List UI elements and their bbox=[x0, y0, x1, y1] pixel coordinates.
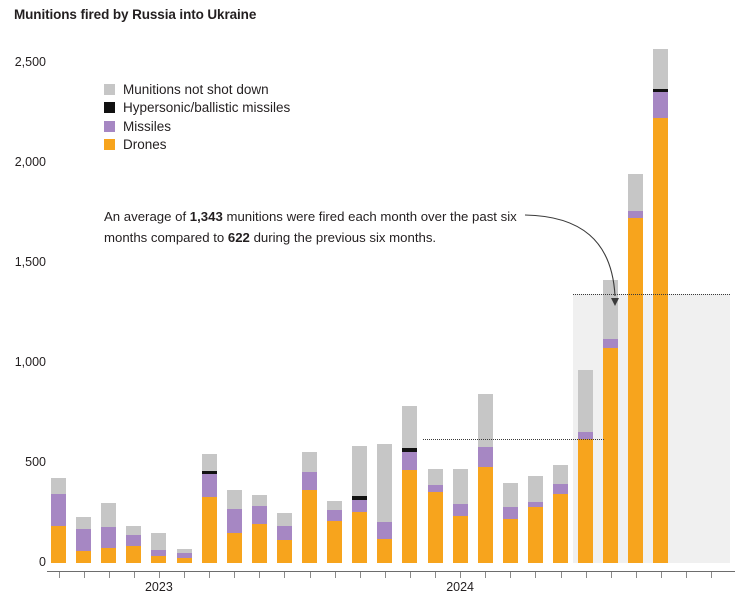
bar-segment-missiles bbox=[402, 452, 417, 470]
x-axis-tick bbox=[184, 572, 185, 578]
bar-jun-2024[interactable] bbox=[478, 394, 493, 563]
bar-segment-not-shot-down bbox=[101, 503, 116, 527]
plot-area: 20232024 bbox=[47, 0, 735, 600]
x-axis-tick bbox=[460, 572, 461, 578]
bar-jan-2023[interactable] bbox=[51, 478, 66, 563]
y-axis-tick-label: 1,000 bbox=[0, 355, 46, 369]
bar-segment-drones bbox=[51, 526, 66, 563]
bar-segment-not-shot-down bbox=[227, 490, 242, 509]
bar-segment-not-shot-down bbox=[653, 49, 668, 89]
x-axis-tick bbox=[611, 572, 612, 578]
bar-segment-drones bbox=[402, 470, 417, 563]
x-axis-line bbox=[47, 571, 735, 572]
bar-segment-drones bbox=[653, 118, 668, 563]
x-axis-tick bbox=[510, 572, 511, 578]
y-axis-tick-label: 1,500 bbox=[0, 255, 46, 269]
bar-segment-drones bbox=[503, 519, 518, 563]
bar-segment-not-shot-down bbox=[553, 465, 568, 484]
x-axis-tick bbox=[209, 572, 210, 578]
bar-segment-drones bbox=[352, 512, 367, 563]
x-axis-tick bbox=[284, 572, 285, 578]
bar-segment-not-shot-down bbox=[327, 501, 342, 510]
bar-segment-missiles bbox=[653, 92, 668, 118]
bar-oct-2023[interactable] bbox=[277, 513, 292, 563]
bar-segment-missiles bbox=[603, 339, 618, 348]
bar-segment-drones bbox=[252, 524, 267, 563]
bar-segment-not-shot-down bbox=[352, 446, 367, 496]
bar-jun-2023[interactable] bbox=[177, 549, 192, 563]
bar-nov-2023[interactable] bbox=[302, 452, 317, 563]
bar-segment-missiles bbox=[227, 509, 242, 533]
bar-segment-not-shot-down bbox=[277, 513, 292, 526]
bar-segment-missiles bbox=[377, 522, 392, 539]
bar-segment-drones bbox=[277, 540, 292, 563]
bar-segment-drones bbox=[76, 551, 91, 563]
bar-segment-not-shot-down bbox=[503, 483, 518, 507]
bar-segment-missiles bbox=[528, 502, 543, 507]
bar-segment-not-shot-down bbox=[151, 533, 166, 550]
bar-segment-not-shot-down bbox=[628, 174, 643, 211]
x-axis-tick bbox=[259, 572, 260, 578]
y-axis-tick-label: 2,000 bbox=[0, 155, 46, 169]
bar-segment-hypersonic bbox=[402, 448, 417, 452]
bar-segment-missiles bbox=[51, 494, 66, 526]
reference-line-622 bbox=[423, 439, 605, 440]
x-axis-tick bbox=[335, 572, 336, 578]
bar-jul-2024[interactable] bbox=[503, 483, 518, 563]
bar-segment-missiles bbox=[126, 535, 141, 546]
bar-segment-drones bbox=[177, 558, 192, 563]
bar-segment-drones bbox=[327, 521, 342, 563]
reference-line-1343 bbox=[573, 294, 730, 295]
bar-may-2024[interactable] bbox=[453, 469, 468, 563]
bar-segment-drones bbox=[453, 516, 468, 563]
bar-segment-missiles bbox=[352, 500, 367, 512]
bar-jul-2023[interactable] bbox=[202, 454, 217, 563]
bar-segment-drones bbox=[578, 439, 593, 563]
bar-segment-drones bbox=[202, 497, 217, 563]
bar-may-2023[interactable] bbox=[151, 533, 166, 563]
x-axis-tick bbox=[59, 572, 60, 578]
x-axis-tick bbox=[109, 572, 110, 578]
bar-segment-drones bbox=[628, 218, 643, 563]
bar-aug-2024[interactable] bbox=[528, 476, 543, 563]
bar-nov-2024[interactable] bbox=[603, 280, 618, 563]
y-axis: 05001,0001,5002,0002,500 bbox=[0, 0, 46, 600]
y-axis-tick-label: 2,500 bbox=[0, 55, 46, 69]
bar-segment-not-shot-down bbox=[177, 549, 192, 553]
bar-segment-missiles bbox=[628, 211, 643, 218]
x-axis-year-label: 2024 bbox=[446, 580, 474, 594]
y-axis-tick-label: 500 bbox=[0, 455, 46, 469]
bar-jan-2024[interactable] bbox=[352, 446, 367, 563]
x-axis-tick bbox=[410, 572, 411, 578]
bar-feb-2024[interactable] bbox=[377, 444, 392, 563]
bar-segment-missiles bbox=[76, 529, 91, 551]
bar-segment-not-shot-down bbox=[252, 495, 267, 506]
x-axis-tick bbox=[385, 572, 386, 578]
bar-sep-2024[interactable] bbox=[553, 465, 568, 563]
bar-segment-missiles bbox=[453, 504, 468, 516]
x-axis-year-label: 2023 bbox=[145, 580, 173, 594]
bar-segment-missiles bbox=[553, 484, 568, 494]
bar-segment-drones bbox=[478, 467, 493, 563]
bar-segment-missiles bbox=[302, 472, 317, 490]
bar-segment-not-shot-down bbox=[302, 452, 317, 472]
bar-dec-2024[interactable] bbox=[628, 174, 643, 563]
bar-segment-not-shot-down bbox=[428, 469, 443, 485]
bar-segment-not-shot-down bbox=[377, 444, 392, 522]
x-axis-tick bbox=[134, 572, 135, 578]
x-axis-tick bbox=[310, 572, 311, 578]
bar-segment-drones bbox=[151, 556, 166, 563]
x-axis-tick bbox=[435, 572, 436, 578]
bar-segment-drones bbox=[553, 494, 568, 563]
bar-apr-2023[interactable] bbox=[126, 526, 141, 563]
bar-segment-drones bbox=[126, 546, 141, 563]
recent-period-shaded-region bbox=[573, 294, 730, 563]
bar-segment-not-shot-down bbox=[528, 476, 543, 502]
bar-sep-2023[interactable] bbox=[252, 495, 267, 563]
bar-jan-2025[interactable] bbox=[653, 49, 668, 563]
bar-segment-missiles bbox=[252, 506, 267, 524]
x-axis-tick bbox=[535, 572, 536, 578]
bar-segment-missiles bbox=[151, 550, 166, 556]
x-axis-tick bbox=[711, 572, 712, 578]
bar-segment-drones bbox=[302, 490, 317, 563]
bar-segment-not-shot-down bbox=[402, 406, 417, 448]
bar-segment-missiles bbox=[503, 507, 518, 519]
bar-segment-drones bbox=[428, 492, 443, 563]
bar-segment-hypersonic bbox=[653, 89, 668, 92]
x-axis-tick bbox=[686, 572, 687, 578]
bar-segment-not-shot-down bbox=[126, 526, 141, 535]
bar-segment-not-shot-down bbox=[51, 478, 66, 494]
bar-segment-drones bbox=[101, 548, 116, 563]
bar-segment-missiles bbox=[101, 527, 116, 548]
bar-segment-not-shot-down bbox=[578, 370, 593, 432]
bar-segment-missiles bbox=[327, 510, 342, 521]
x-axis-tick bbox=[234, 572, 235, 578]
bar-segment-hypersonic bbox=[352, 496, 367, 500]
bar-segment-missiles bbox=[177, 553, 192, 558]
bar-segment-drones bbox=[377, 539, 392, 563]
y-axis-tick-label: 0 bbox=[0, 555, 46, 569]
bar-segment-missiles bbox=[428, 485, 443, 492]
x-axis-tick bbox=[485, 572, 486, 578]
x-axis-tick bbox=[661, 572, 662, 578]
x-axis-tick bbox=[561, 572, 562, 578]
bar-segment-drones bbox=[603, 348, 618, 563]
bar-segment-not-shot-down bbox=[76, 517, 91, 529]
bar-mar-2023[interactable] bbox=[101, 503, 116, 563]
bar-segment-drones bbox=[227, 533, 242, 563]
bar-segment-drones bbox=[528, 507, 543, 563]
bar-segment-missiles bbox=[478, 447, 493, 467]
bar-segment-missiles bbox=[202, 474, 217, 497]
x-axis-tick bbox=[636, 572, 637, 578]
bar-aug-2023[interactable] bbox=[227, 490, 242, 563]
x-axis-tick bbox=[159, 572, 160, 578]
bar-dec-2023[interactable] bbox=[327, 501, 342, 563]
bar-oct-2024[interactable] bbox=[578, 370, 593, 563]
x-axis-tick bbox=[586, 572, 587, 578]
bar-mar-2024[interactable] bbox=[402, 406, 417, 563]
bar-feb-2023[interactable] bbox=[76, 517, 91, 563]
bar-segment-not-shot-down bbox=[453, 469, 468, 504]
bar-apr-2024[interactable] bbox=[428, 469, 443, 563]
bar-segment-missiles bbox=[277, 526, 292, 540]
bar-segment-not-shot-down bbox=[603, 280, 618, 339]
bar-segment-not-shot-down bbox=[202, 454, 217, 471]
chart-container: Munitions fired by Russia into Ukraine M… bbox=[0, 0, 735, 600]
x-axis-tick bbox=[360, 572, 361, 578]
x-axis-tick bbox=[84, 572, 85, 578]
bar-segment-hypersonic bbox=[202, 471, 217, 474]
